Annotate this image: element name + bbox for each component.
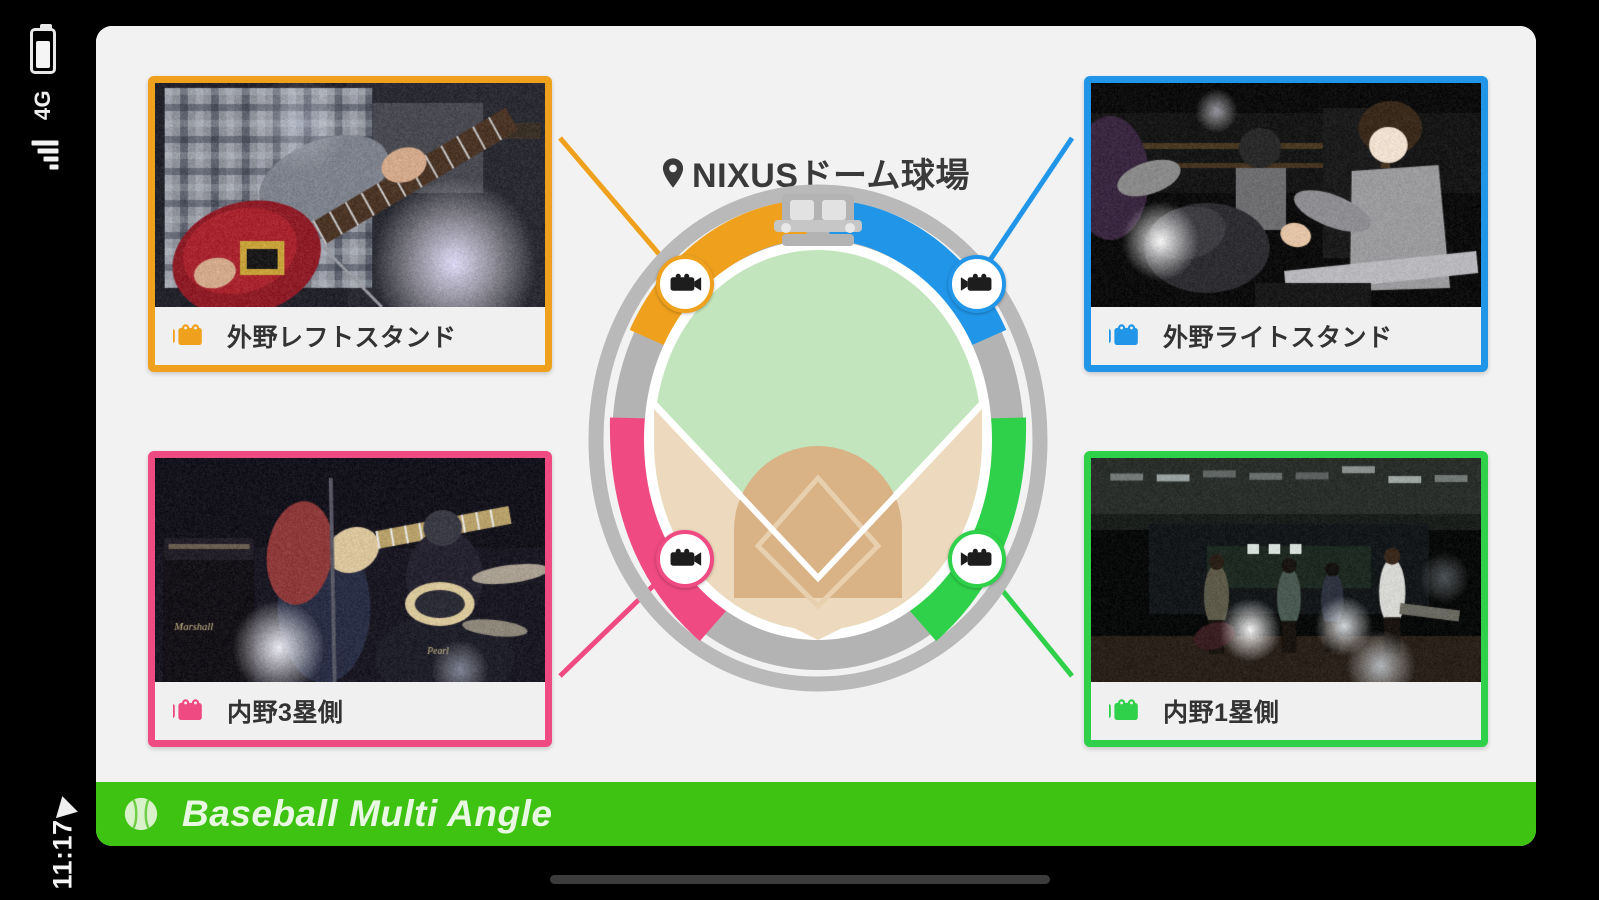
camera-marker-icon	[668, 547, 702, 571]
stadium-diagram	[568, 178, 1068, 698]
network-type-label: 4G	[30, 90, 56, 120]
device-frame: 4G 11:17 NIX	[0, 0, 1599, 900]
angle-card-label-row: 外野レフトスタンド	[155, 307, 545, 365]
app-title: Baseball Multi Angle	[182, 793, 552, 835]
video-thumbnail[interactable]	[1091, 458, 1481, 682]
camera-marker-third-base[interactable]	[656, 530, 714, 588]
signal-bars-icon	[28, 141, 58, 170]
angle-label: 内野1塁側	[1163, 693, 1279, 729]
angle-label: 内野3塁側	[227, 693, 343, 729]
video-thumbnail[interactable]	[1091, 83, 1481, 307]
status-bar-clock-group: 11:17	[28, 801, 98, 870]
camera-marker-first-base[interactable]	[948, 530, 1006, 588]
angle-card-left-field[interactable]: 外野レフトスタンド	[148, 76, 552, 372]
angle-label: 外野ライトスタンド	[1163, 318, 1393, 354]
video-thumbnail[interactable]	[155, 458, 545, 682]
video-camera-icon	[173, 698, 209, 724]
camera-marker-icon	[668, 272, 702, 296]
status-bar: 4G 11:17	[0, 0, 100, 900]
camera-marker-right-field[interactable]	[948, 255, 1006, 313]
angle-card-first-base[interactable]: 内野1塁側	[1084, 451, 1488, 747]
status-bar-time: 11:17	[48, 819, 79, 889]
status-bar-indicators: 4G	[28, 28, 58, 170]
home-indicator[interactable]	[550, 875, 1050, 884]
camera-marker-icon	[960, 547, 994, 571]
baseball-icon	[122, 795, 160, 833]
battery-icon	[30, 28, 56, 74]
angle-card-label-row: 内野1塁側	[1091, 682, 1481, 740]
video-camera-icon	[1109, 698, 1145, 724]
angle-card-label-row: 内野3塁側	[155, 682, 545, 740]
video-thumbnail[interactable]	[155, 83, 545, 307]
scoreboard-structure	[774, 194, 862, 246]
app-screen: NIXUSドーム球場	[96, 26, 1536, 846]
multi-angle-stage: NIXUSドーム球場	[96, 26, 1536, 782]
video-camera-icon	[173, 323, 209, 349]
app-bar: Baseball Multi Angle	[96, 782, 1536, 846]
angle-card-third-base[interactable]: 内野3塁側	[148, 451, 552, 747]
angle-card-label-row: 外野ライトスタンド	[1091, 307, 1481, 365]
angle-label: 外野レフトスタンド	[227, 318, 457, 354]
camera-marker-icon	[960, 272, 994, 296]
video-camera-icon	[1109, 323, 1145, 349]
camera-marker-left-field[interactable]	[656, 255, 714, 313]
angle-card-right-field[interactable]: 外野ライトスタンド	[1084, 76, 1488, 372]
